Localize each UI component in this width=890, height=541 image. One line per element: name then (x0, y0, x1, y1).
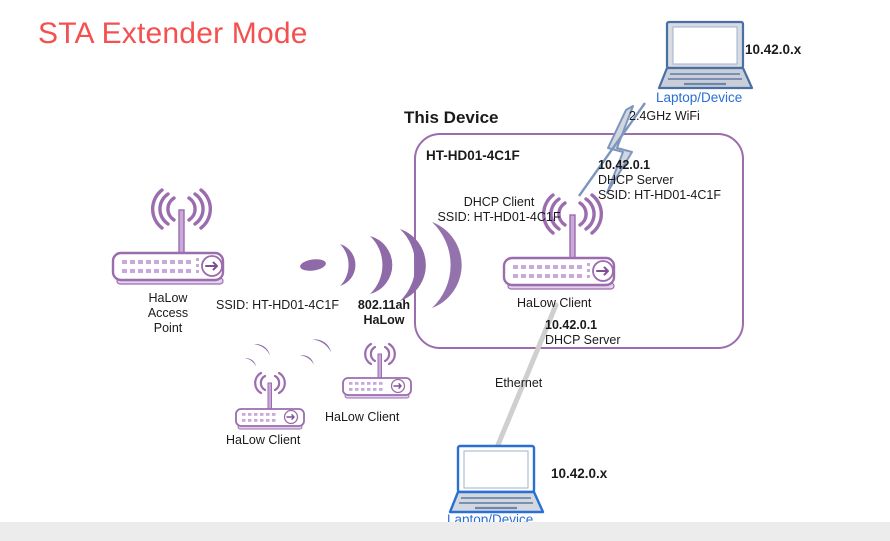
wifi-ap-role: DHCP Server (598, 173, 721, 188)
wifi-ap-ssid-value: : HT-HD01-4C1F (627, 188, 721, 202)
halow-standard-line2: HaLow (352, 313, 416, 328)
laptop-top-icon (659, 22, 752, 88)
wifi-ap-ssid-label: SSID (598, 188, 627, 202)
halow-ssid-label: SSID (216, 298, 245, 312)
ethernet-ap-ip: 10.42.0.1 (545, 318, 620, 333)
halow-access-point-icon (113, 190, 223, 284)
dhcp-client-label: DHCP Client (414, 195, 584, 210)
ethernet-ap-role: DHCP Server (545, 333, 620, 348)
halow-ssid-value: : HT-HD01-4C1F (245, 298, 339, 312)
ssid-label: SSID (438, 210, 467, 224)
halow-standard-label: 802.11ah HaLow (352, 298, 416, 328)
halow-client-signal-arcs-icon (244, 334, 332, 369)
wifi-link-label: 2.4GHz WiFi (629, 109, 700, 124)
laptop-top-label: Laptop/Device (656, 90, 742, 105)
laptop-bottom-icon (450, 446, 543, 512)
device-ssid-name: HT-HD01-4C1F (426, 148, 520, 163)
ap-label-line3: Point (128, 321, 208, 336)
halow-client-right-label: HaLow Client (325, 410, 399, 425)
halow-standard-line1: 802.11ah (352, 298, 416, 313)
halow-link-ssid: SSID: HT-HD01-4C1F (216, 298, 339, 313)
diagram-canvas: STA Extender Mode This Device (0, 0, 890, 541)
ethernet-link-label: Ethernet (495, 376, 542, 391)
ap-label-line2: Access (128, 306, 208, 321)
ethernet-ap-annotation: 10.42.0.1 DHCP Server (545, 318, 620, 348)
laptop-top-ip: 10.42.0.x (745, 42, 801, 57)
footer-band (0, 522, 890, 541)
halow-client-right-icon (343, 344, 411, 398)
wifi-ap-ip: 10.42.0.1 (598, 158, 721, 173)
device-ssid-line: SSID: HT-HD01-4C1F (414, 210, 584, 225)
page-title: STA Extender Mode (38, 17, 308, 51)
ssid-value: : HT-HD01-4C1F (467, 210, 561, 224)
laptop-bottom-ip: 10.42.0.x (551, 466, 607, 481)
halow-client-left-label: HaLow Client (226, 433, 300, 448)
wifi-ap-ssid: SSID: HT-HD01-4C1F (598, 188, 721, 203)
ap-label-line1: HaLow (128, 291, 208, 306)
halow-access-point-label: HaLow Access Point (128, 291, 208, 336)
halow-client-left-icon (236, 373, 304, 429)
wifi-ap-annotation: 10.42.0.1 DHCP Server SSID: HT-HD01-4C1F (598, 158, 721, 203)
halow-client-inbox-label: HaLow Client (517, 296, 591, 311)
halow-client-role-block: DHCP Client SSID: HT-HD01-4C1F (414, 195, 584, 225)
this-device-heading: This Device (404, 108, 499, 128)
